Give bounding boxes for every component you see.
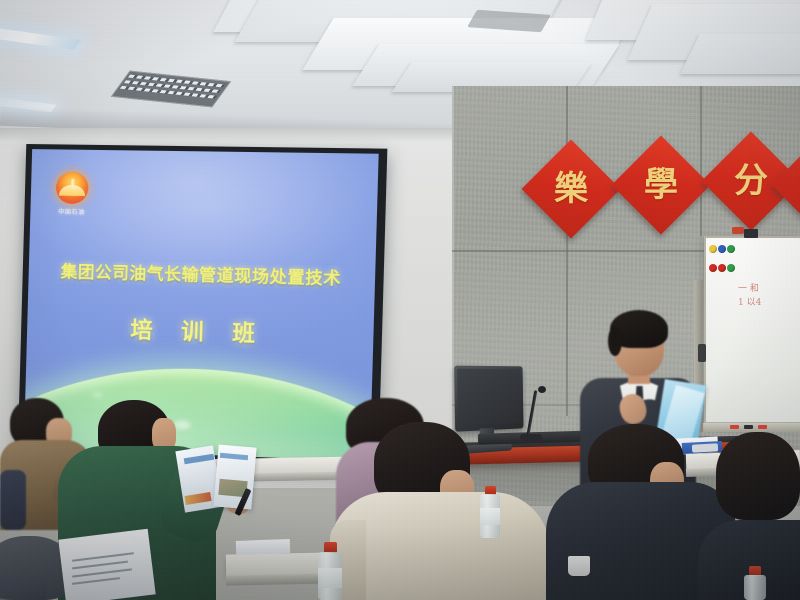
water-bottle xyxy=(744,566,766,600)
placard-char: 學 xyxy=(626,150,696,220)
whiteboard-magnets xyxy=(708,239,756,277)
water-bottle xyxy=(480,486,500,538)
bottle-body xyxy=(744,575,766,600)
projection-screen: 中国石油 集团公司油气长输管道现场处置技术 培 训 班 xyxy=(18,144,388,469)
computer-monitor xyxy=(454,366,523,432)
desk-papers xyxy=(236,539,290,555)
earth-highlight xyxy=(174,420,191,430)
cnpc-logo-caption: 中国石油 xyxy=(50,207,92,217)
bottle-label xyxy=(480,508,500,525)
monitor-bezel xyxy=(457,369,521,426)
whiteboard-clip xyxy=(744,229,758,238)
ceiling-light-icon xyxy=(0,27,81,50)
desk-item xyxy=(692,443,718,452)
meeting-room-photo: 樂 學 分 享 一 和 1 以4 xyxy=(0,0,800,600)
ceiling-coffer xyxy=(680,34,800,74)
wall-placard-1: 樂 xyxy=(522,140,621,239)
whiteboard-clip xyxy=(732,227,744,234)
cnpc-sun-logo-icon xyxy=(56,171,89,204)
cnpc-logo: 中国石油 xyxy=(50,171,93,216)
stone-seam xyxy=(700,86,702,236)
whiteboard-notes: 一 和 1 以4 xyxy=(738,282,798,322)
wall-placard-2: 學 xyxy=(612,136,711,235)
water-bottle xyxy=(318,542,342,600)
whiteboard: 一 和 1 以4 xyxy=(704,236,800,424)
whiteboard-hinge xyxy=(698,344,706,362)
placard-char: 享 xyxy=(786,150,800,220)
presenter-hair xyxy=(608,326,622,356)
microphone-base xyxy=(520,434,542,441)
whiteboard-note-line: 1 以4 xyxy=(738,296,798,310)
paper-cup xyxy=(568,556,590,576)
slide-surface: 中国石油 集团公司油气长输管道现场处置技术 培 训 班 xyxy=(24,149,379,462)
attendee-inner-layer xyxy=(0,470,26,530)
bottle-label xyxy=(318,568,342,588)
attendee-hair xyxy=(716,432,800,520)
whiteboard-note-line: 一 和 xyxy=(738,282,798,296)
slide-subtitle: 培 训 班 xyxy=(27,309,374,352)
microphone-head-icon xyxy=(538,386,546,393)
whiteboard-pen-tray xyxy=(700,423,800,432)
air-vent-grille xyxy=(111,71,231,108)
foreground-shoulder xyxy=(0,574,46,600)
placard-char: 樂 xyxy=(536,154,606,224)
